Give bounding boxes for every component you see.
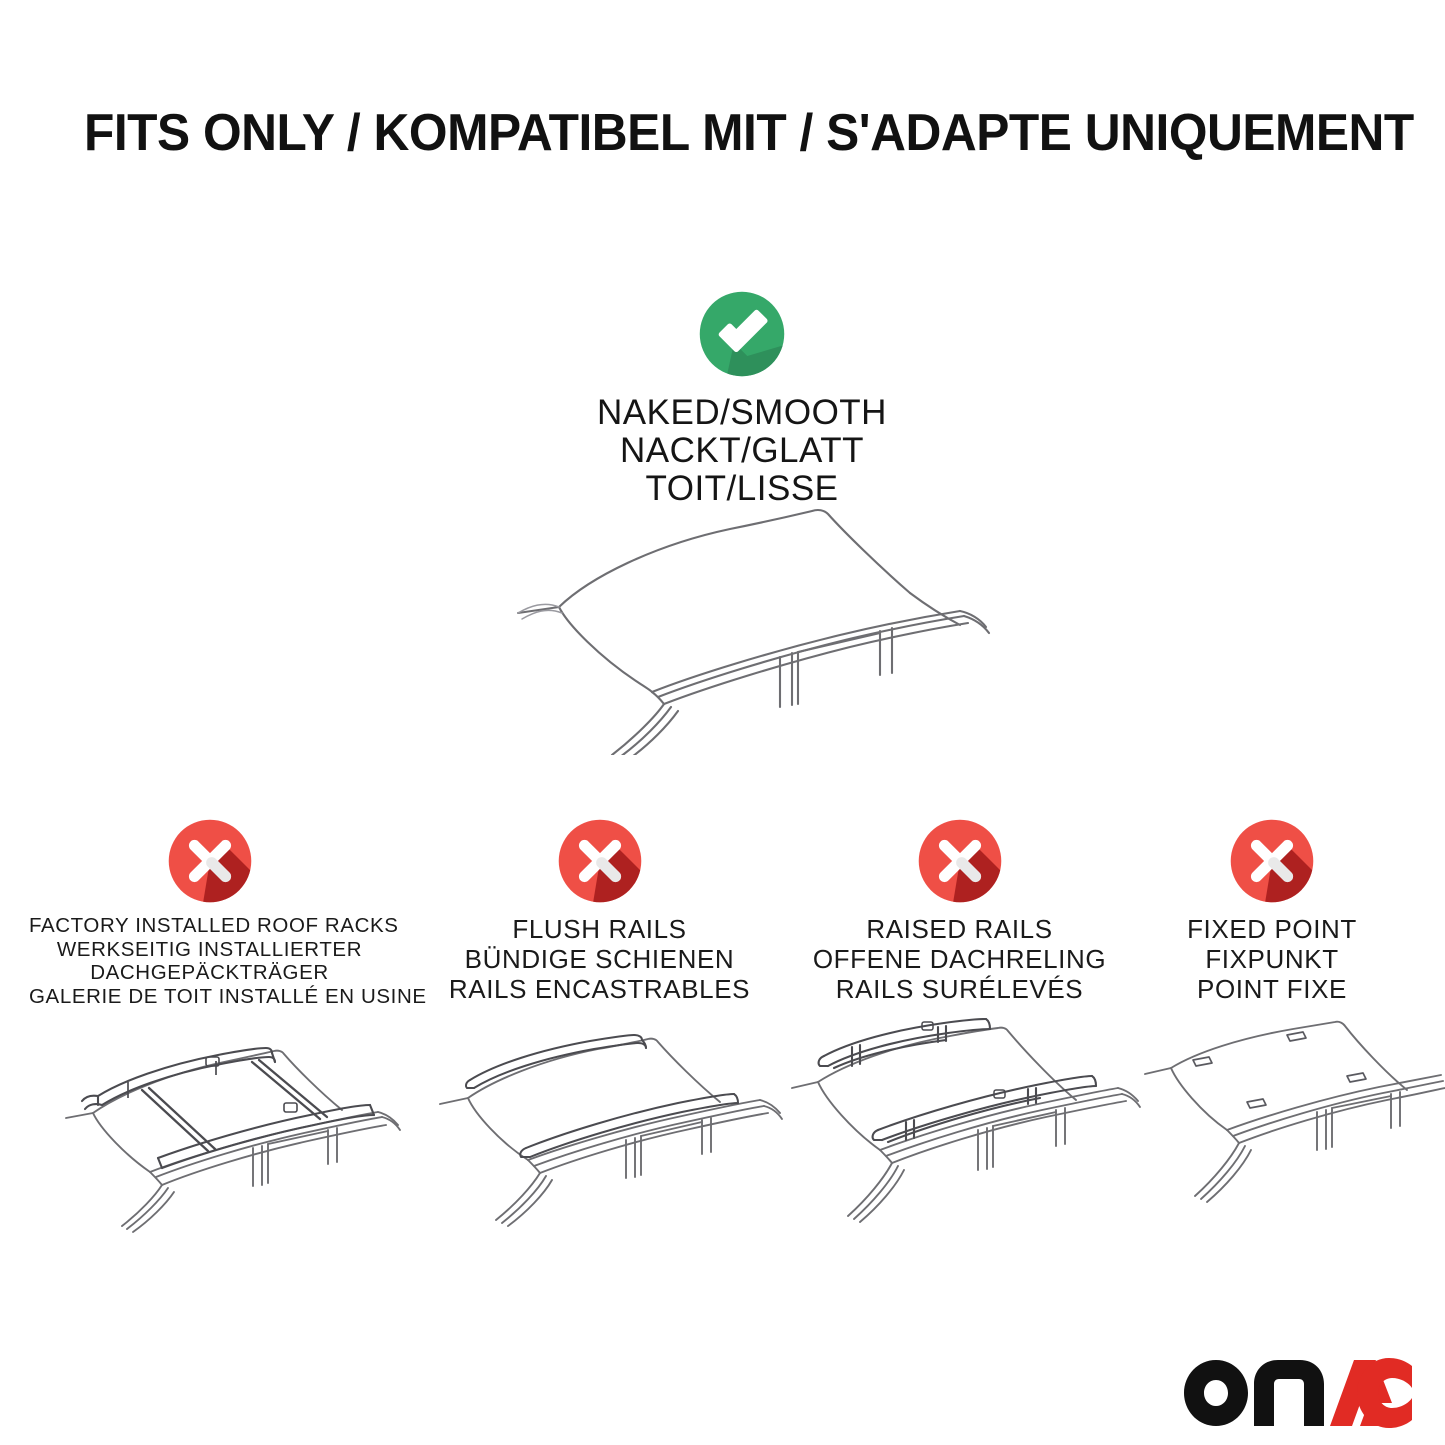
car-roof-fixed-point-illustration — [1135, 1018, 1445, 1253]
incompatible-block-factory-racks: FACTORY INSTALLED ROOF RACKS WERKSEITIG … — [29, 818, 390, 1008]
car-roof-factory-installed-racks-illustration — [38, 1018, 408, 1253]
car-roof-flush-rails-illustration — [420, 1018, 790, 1253]
compatible-label-de: NACKT/GLATT — [472, 432, 1012, 470]
incompatible-label-en-0: FACTORY INSTALLED ROOF RACKS — [29, 914, 390, 938]
incompatible-label-fr-3: POINT FIXE — [1112, 974, 1432, 1004]
x-circle-icon — [557, 818, 643, 904]
car-roof-naked-smooth-illustration — [440, 485, 1030, 755]
logo-letter-m — [1254, 1360, 1324, 1426]
car-roof-raised-rails-illustration — [778, 1018, 1150, 1253]
incompatible-labels: FIXED POINT FIXPUNKT POINT FIXE — [1112, 914, 1432, 1004]
x-circle-icon — [1229, 818, 1315, 904]
fitment-infographic: FITS ONLY / KOMPATIBEL MIT / S'ADAPTE UN… — [0, 0, 1445, 1445]
incompatible-label-de-2: OFFENE DACHRELING — [779, 944, 1140, 974]
incompatible-label-de2-0: DACHGEPÄCKTRÄGER — [29, 961, 390, 985]
compatible-label-en: NAKED/SMOOTH — [472, 394, 1012, 432]
incompatible-label-fr-1: RAILS ENCASTRABLES — [419, 974, 780, 1004]
page-title: FITS ONLY / KOMPATIBEL MIT / S'ADAPTE UN… — [84, 106, 1316, 160]
incompatible-labels: RAISED RAILS OFFENE DACHRELING RAILS SUR… — [779, 914, 1140, 1004]
incompatible-block-raised-rails: RAISED RAILS OFFENE DACHRELING RAILS SUR… — [779, 818, 1140, 1004]
incompatible-labels: FACTORY INSTALLED ROOF RACKS WERKSEITIG … — [29, 914, 390, 1008]
incompatible-label-de-1: BÜNDIGE SCHIENEN — [419, 944, 780, 974]
incompatible-label-de-3: FIXPUNKT — [1112, 944, 1432, 974]
incompatible-label-fr-2: RAILS SURÉLEVÉS — [779, 974, 1140, 1004]
incompatible-label-en-3: FIXED POINT — [1112, 914, 1432, 944]
incompatible-labels: FLUSH RAILS BÜNDIGE SCHIENEN RAILS ENCAS… — [419, 914, 780, 1004]
incompatible-block-flush-rails: FLUSH RAILS BÜNDIGE SCHIENEN RAILS ENCAS… — [419, 818, 780, 1004]
incompatible-label-en-2: RAISED RAILS — [779, 914, 1140, 944]
logo-letter-o — [1184, 1360, 1248, 1426]
incompatible-block-fixed-point: FIXED POINT FIXPUNKT POINT FIXE — [1112, 818, 1432, 1004]
x-circle-icon — [917, 818, 1003, 904]
incompatible-label-en-1: FLUSH RAILS — [419, 914, 780, 944]
incompatible-label-fr-0: GALERIE DE TOIT INSTALLÉ EN USINE — [29, 985, 390, 1009]
check-circle-icon — [698, 290, 786, 378]
compatible-block: NAKED/SMOOTH NACKT/GLATT TOIT/LISSE — [472, 290, 1012, 508]
x-circle-icon — [167, 818, 253, 904]
omac-logo — [1182, 1358, 1414, 1428]
incompatible-label-de-0: WERKSEITIG INSTALLIERTER — [29, 938, 390, 962]
